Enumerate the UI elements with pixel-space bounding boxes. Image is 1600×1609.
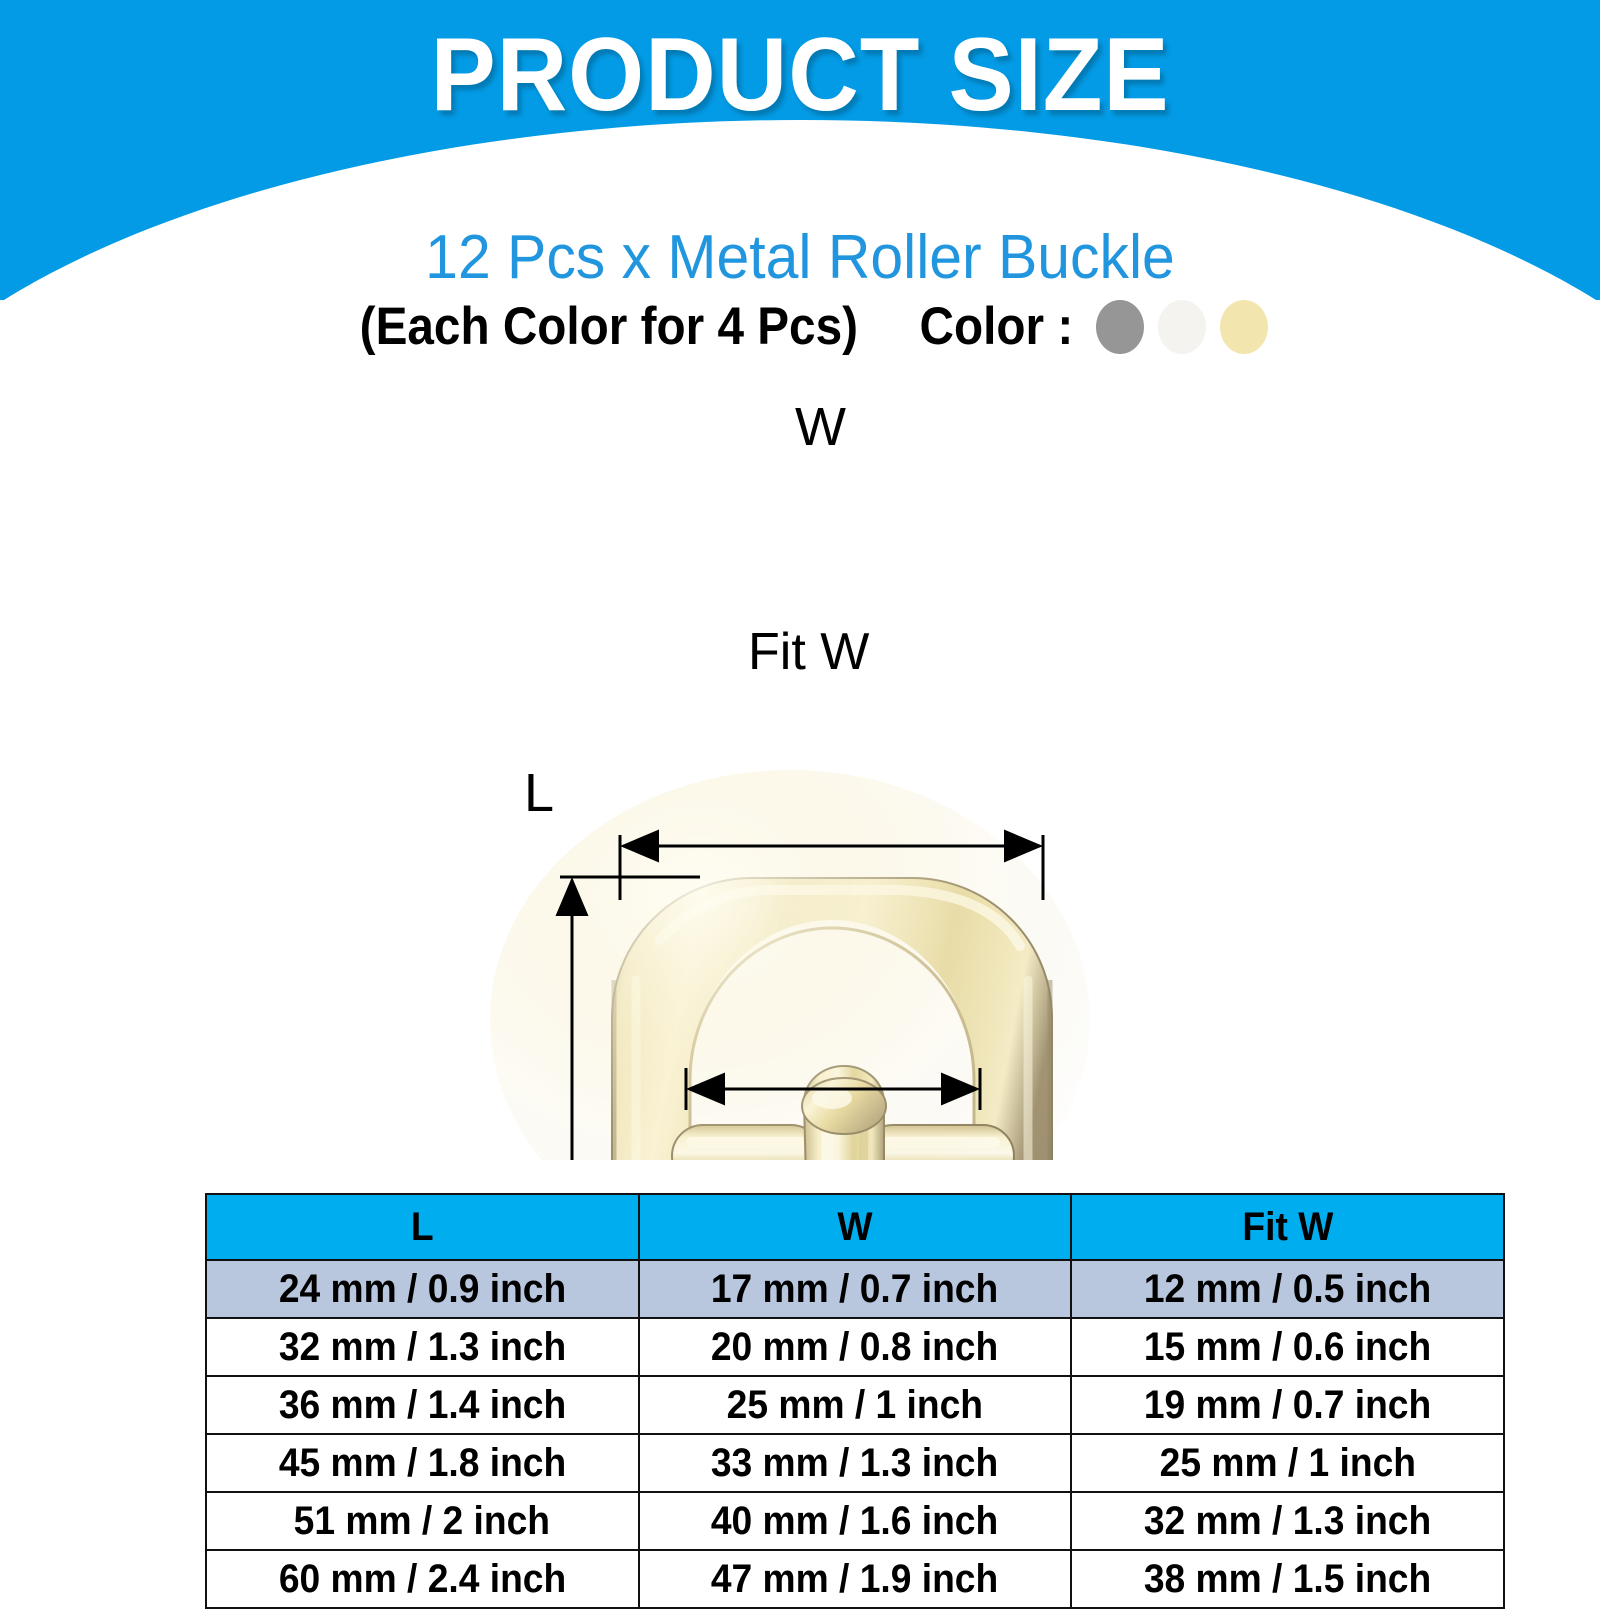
label-w: W [795,396,846,458]
cell-w: 33 mm / 1.3 inch [639,1434,1072,1492]
swatch-light-gold [1220,300,1268,354]
cell-w: 40 mm / 1.6 inch [639,1492,1072,1550]
table-row: 24 mm / 0.9 inch 17 mm / 0.7 inch 12 mm … [206,1260,1504,1318]
swatch-silver-white [1158,300,1206,354]
roller-left-highlight [686,1137,808,1148]
cell-l: 51 mm / 2 inch [206,1492,639,1550]
cell-l: 24 mm / 0.9 inch [206,1260,639,1318]
table-row: 51 mm / 2 inch 40 mm / 1.6 inch 32 mm / … [206,1492,1504,1550]
cell-l: 32 mm / 1.3 inch [206,1318,639,1376]
cell-fit-w: 15 mm / 0.6 inch [1071,1318,1504,1376]
cell-l: 36 mm / 1.4 inch [206,1376,639,1434]
cell-w: 20 mm / 0.8 inch [639,1318,1072,1376]
buckle-illustration-svg [0,380,1600,1160]
product-diagram: W L Fit W [0,380,1600,1160]
column-header-fit-w: Fit W [1071,1194,1504,1260]
size-table: L W Fit W 24 mm / 0.9 inch 17 mm / 0.7 i… [205,1193,1505,1609]
column-header-w: W [639,1194,1072,1260]
page-title: PRODUCT SIZE [48,16,1552,135]
color-swatch-group [1096,300,1268,354]
roller-right-highlight [876,1137,1000,1148]
table-body: 24 mm / 0.9 inch 17 mm / 0.7 inch 12 mm … [206,1260,1504,1608]
cell-w: 47 mm / 1.9 inch [639,1550,1072,1608]
cell-w: 25 mm / 1 inch [639,1376,1072,1434]
cell-fit-w: 25 mm / 1 inch [1071,1434,1504,1492]
table-header-row: L W Fit W [206,1194,1504,1260]
table-row: 45 mm / 1.8 inch 33 mm / 1.3 inch 25 mm … [206,1434,1504,1492]
table-row: 60 mm / 2.4 inch 47 mm / 1.9 inch 38 mm … [206,1550,1504,1608]
color-info-row: (Each Color for 4 Pcs) Color : [0,296,1600,357]
cell-fit-w: 19 mm / 0.7 inch [1071,1376,1504,1434]
cell-fit-w: 32 mm / 1.3 inch [1071,1492,1504,1550]
color-label: Color : [920,296,1074,357]
table-row: 36 mm / 1.4 inch 25 mm / 1 inch 19 mm / … [206,1376,1504,1434]
table-row: 32 mm / 1.3 inch 20 mm / 0.8 inch 15 mm … [206,1318,1504,1376]
label-fit-w: Fit W [748,622,869,682]
swatch-gunmetal-gray [1096,300,1144,354]
cell-l: 60 mm / 2.4 inch [206,1550,639,1608]
buckle-prong [802,1066,886,1160]
column-header-l: L [206,1194,639,1260]
product-subtitle: 12 Pcs x Metal Roller Buckle [40,222,1560,293]
cell-w: 17 mm / 0.7 inch [639,1260,1072,1318]
label-l: L [524,762,554,824]
cell-l: 45 mm / 1.8 inch [206,1434,639,1492]
color-count-note: (Each Color for 4 Pcs) [359,296,857,357]
cell-fit-w: 38 mm / 1.5 inch [1071,1550,1504,1608]
cell-fit-w: 12 mm / 0.5 inch [1071,1260,1504,1318]
